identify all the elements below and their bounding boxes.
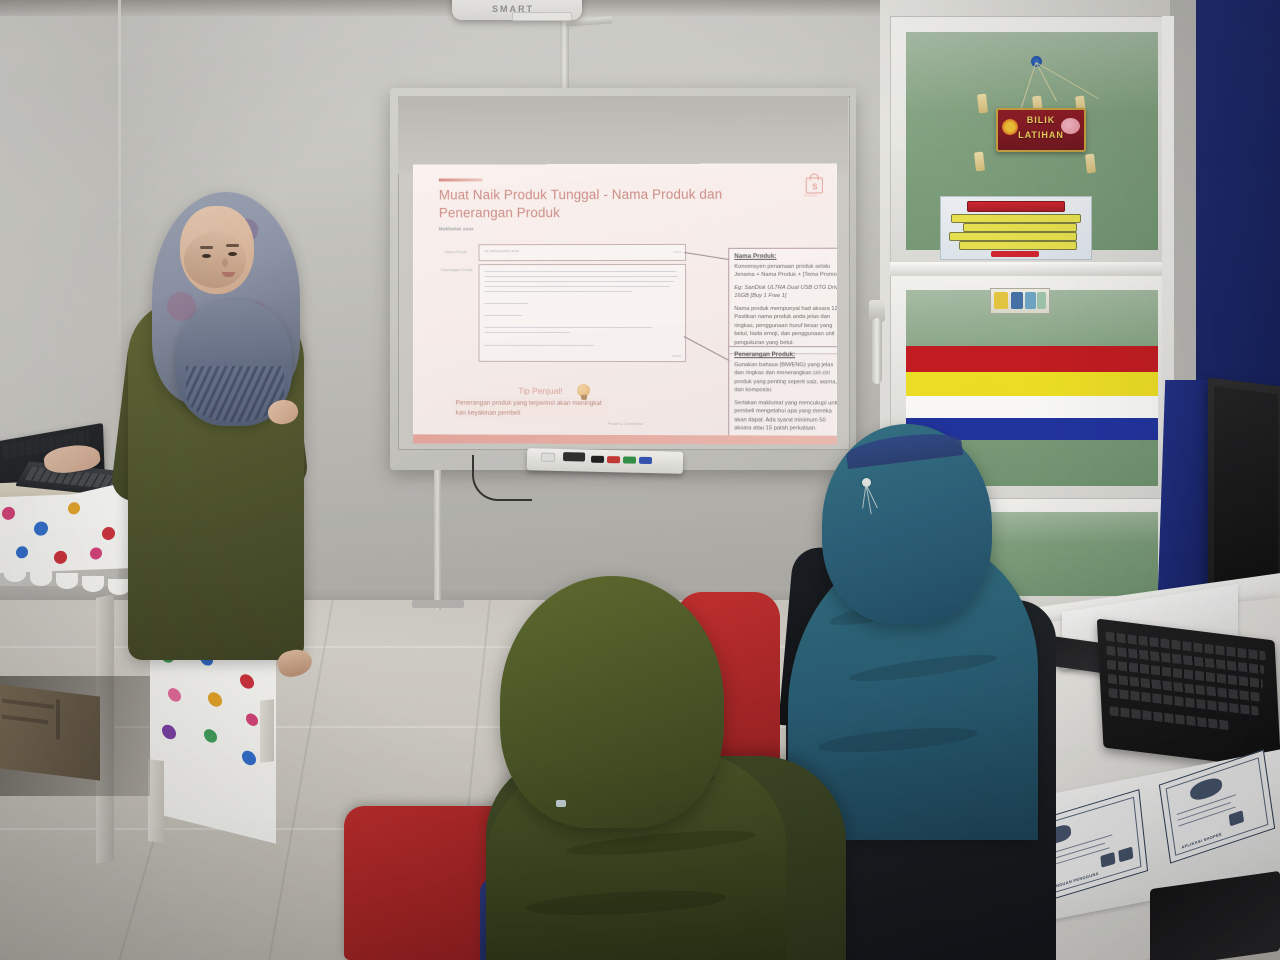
poster-row-4 [959, 241, 1077, 250]
lightbulb-icon [577, 384, 590, 401]
presenter-eye-right [228, 252, 237, 256]
poster-row-2 [963, 223, 1077, 232]
shopee-letter: S [812, 183, 817, 191]
presenter-eye-left [202, 254, 211, 258]
slide-title: Muat Naik Produk Tunggal - Nama Produk d… [439, 186, 769, 222]
window-mullion-horizontal [890, 262, 1172, 276]
attendee-green-pin [556, 800, 566, 807]
slide-footnote: Private & Confidential [608, 422, 643, 426]
slide-bottom-bar [413, 434, 837, 444]
slide-form-field-desc: 0/3000 [479, 264, 687, 362]
pen-slot-black[interactable] [591, 456, 604, 463]
shopee-logo: S Shopee [805, 173, 823, 193]
note-heading-0: Nama Produk: [734, 253, 837, 260]
attendee-green-head [500, 576, 724, 828]
cardboard-box [0, 683, 100, 780]
callout-line-2 [684, 336, 731, 361]
shopee-bag-icon: S [806, 177, 823, 193]
note-para-0-1: Eg: SanDisk ULTRA Dual USB OTG Drive 16G… [734, 283, 837, 300]
note-para-1-0: Gunakan bahasa (BM/ENG) yang jelas dan r… [734, 361, 837, 396]
slide-accent-bar [439, 178, 483, 181]
monitor-screen [1214, 386, 1278, 602]
note-para-0-2: Nama produk mempunyai had aksara 120. Pa… [734, 305, 837, 348]
tray-eraser[interactable] [563, 452, 585, 461]
clothes-peg-1 [977, 94, 988, 114]
banner-line-1: BILIK [998, 115, 1084, 125]
slide-form-label-0: Nama Produk [445, 250, 467, 254]
callout-line-1 [684, 252, 730, 260]
poster-title-bar [967, 201, 1065, 212]
poster-row-3 [949, 232, 1077, 241]
window-stripe-white [906, 396, 1158, 418]
tray-button[interactable] [541, 453, 555, 462]
desktop-keyboard[interactable] [1097, 618, 1280, 769]
info-poster [940, 196, 1092, 260]
board-upper-shadow [398, 96, 848, 174]
wall-certificate [990, 288, 1050, 314]
smart-board-pen-tray[interactable] [527, 448, 683, 474]
ceiling-strip [0, 0, 900, 16]
window-stripe-yellow [906, 372, 1158, 396]
note-para-0-0: Konvensyen penamaan produk selalu Jenama… [734, 262, 837, 279]
poster-row-1 [951, 214, 1081, 223]
projected-slide: Muat Naik Produk Tunggal - Nama Produk d… [413, 163, 837, 444]
slide-form-counter-0: 0/120 [674, 250, 682, 254]
board-base-plate [412, 600, 464, 608]
note-heading-1: Penerangan Produk: [734, 351, 837, 358]
poster-footer-bar [991, 251, 1039, 257]
window-stripe-red [906, 346, 1158, 372]
table-leg-front [148, 759, 164, 843]
note-para-1-1: Serlakan maklumat yang mencukupi untuk p… [734, 399, 837, 434]
note-box-penerangan-produk: Penerangan Produk: Gunakan bahasa (BM/EN… [728, 346, 837, 445]
bilik-latihan-banner: BILIK LATIHAN [996, 108, 1086, 152]
classroom-photo-scene: SMART Muat Naik Produk Tunggal - Nama Pr… [0, 0, 1280, 960]
slide-form-field-value: Isi nama produk anda [484, 249, 518, 253]
board-stand [434, 470, 441, 610]
pen-slot-red[interactable] [607, 456, 620, 463]
banner-line-2: LATIHAN [998, 130, 1084, 140]
clothes-peg-5 [1085, 154, 1096, 174]
table-leg-back [260, 699, 274, 762]
smart-board[interactable]: Muat Naik Produk Tunggal - Nama Produk d… [390, 88, 856, 470]
note-box-nama-produk: Nama Produk: Konvensyen penamaan produk … [728, 248, 837, 355]
shopee-wordmark: Shopee [804, 194, 818, 198]
slide-form-heading: Maklumat asas [439, 226, 474, 231]
board-cable [472, 455, 532, 501]
tip-block: Tip Penjual! Penerangan produk yang terp… [453, 386, 632, 428]
door-handle[interactable] [872, 318, 882, 384]
clothes-peg-4 [974, 152, 985, 172]
projector-vent [512, 12, 572, 21]
pen-slot-blue[interactable] [639, 457, 652, 464]
pen-slot-green[interactable] [623, 456, 636, 463]
slide-form-counter-1: 0/3000 [672, 354, 681, 358]
slide-form-label-1: Penerangan Produk [441, 268, 473, 272]
tip-title: Tip Penjual! [518, 386, 562, 396]
slide-form-field-name: Isi nama produk anda 0/120 [479, 244, 687, 261]
